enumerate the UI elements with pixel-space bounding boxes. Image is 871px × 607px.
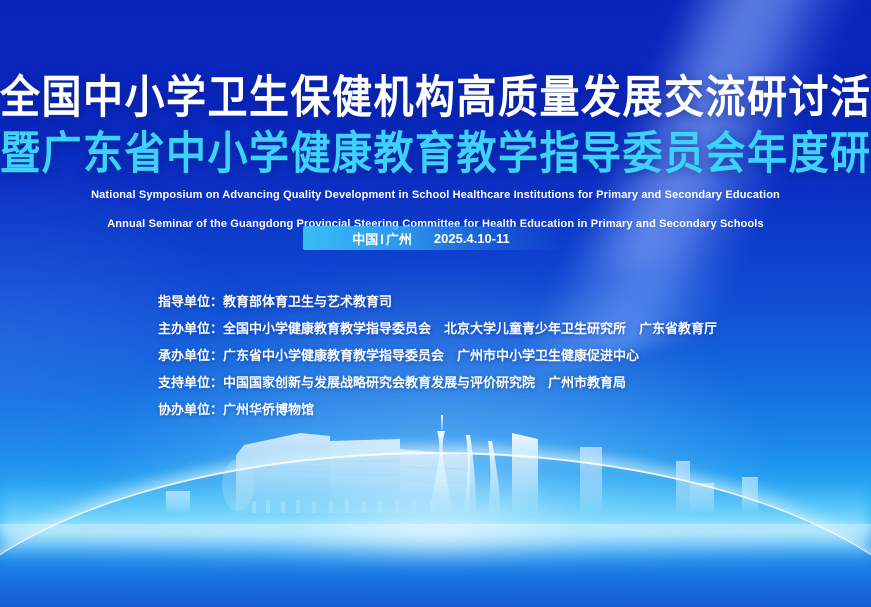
organization-label: 支持单位： bbox=[158, 375, 223, 390]
organization-label: 主办单位： bbox=[158, 321, 223, 336]
organization-value: 教育部体育卫生与艺术教育司 bbox=[223, 294, 392, 309]
organization-row: 承办单位：广东省中小学健康教育教学指导委员会 广州市中小学卫生健康促进中心 bbox=[158, 342, 717, 369]
office-tower-c bbox=[676, 461, 690, 513]
organization-row: 支持单位：中国国家创新与发展战略研究会教育发展与评价研究院 广州市教育局 bbox=[158, 369, 717, 396]
horizon-arc-line bbox=[0, 452, 871, 607]
title-block: 全国中小学卫生保健机构高质量发展交流研讨活动 暨广东省中小学健康教育教学指导委员… bbox=[0, 0, 871, 232]
organizations-list: 指导单位：教育部体育卫生与艺术教育司 主办单位：全国中小学健康教育教学指导委员会… bbox=[158, 288, 717, 423]
office-tower-b bbox=[580, 447, 602, 513]
organization-row: 主办单位：全国中小学健康教育教学指导委员会 北京大学儿童青少年卫生研究所 广东省… bbox=[158, 315, 717, 342]
poster-title-en-line1: National Symposium on Advancing Quality … bbox=[0, 188, 871, 203]
meta-country: 中国 bbox=[352, 232, 378, 247]
event-meta-bar: 中国l广州 2025.4.10-11 bbox=[303, 226, 565, 250]
event-poster: 全国中小学卫生保健机构高质量发展交流研讨活动 暨广东省中小学健康教育教学指导委员… bbox=[0, 0, 871, 607]
office-tower-e bbox=[742, 477, 758, 513]
organization-value: 中国国家创新与发展战略研究会教育发展与评价研究院 广州市教育局 bbox=[223, 375, 626, 390]
office-tower-a bbox=[512, 433, 538, 513]
organization-value: 广东省中小学健康教育教学指导委员会 广州市中小学卫生健康促进中心 bbox=[223, 348, 639, 363]
ground-reflection bbox=[0, 524, 871, 607]
organization-label: 承办单位： bbox=[158, 348, 223, 363]
meta-location: 中国l广州 bbox=[352, 229, 412, 248]
organization-label: 协办单位： bbox=[158, 402, 223, 417]
organization-row: 协办单位：广州华侨博物馆 bbox=[158, 396, 717, 423]
organization-value: 全国中小学健康教育教学指导委员会 北京大学儿童青少年卫生研究所 广东省教育厅 bbox=[223, 321, 717, 336]
meta-city: 广州 bbox=[386, 232, 412, 247]
organization-label: 指导单位： bbox=[158, 294, 223, 309]
meta-bar-text: 中国l广州 2025.4.10-11 bbox=[303, 226, 565, 250]
guangzhou-skyline-silhouette bbox=[0, 405, 871, 535]
school-building-illustration bbox=[222, 433, 470, 513]
spire-towers bbox=[464, 435, 500, 513]
horizon-arc-glow bbox=[0, 446, 871, 607]
organization-value: 广州华侨博物馆 bbox=[223, 402, 314, 417]
meta-dates: 2025.4.10-11 bbox=[434, 231, 510, 246]
organization-row: 指导单位：教育部体育卫生与艺术教育司 bbox=[158, 288, 717, 315]
poster-title-cn-primary: 全国中小学卫生保健机构高质量发展交流研讨活动 bbox=[0, 72, 871, 124]
poster-content: 全国中小学卫生保健机构高质量发展交流研讨活动 暨广东省中小学健康教育教学指导委员… bbox=[0, 0, 871, 232]
horizon-glow-band bbox=[0, 478, 871, 568]
canton-tower-silhouette bbox=[430, 415, 452, 513]
office-tower-d bbox=[690, 483, 714, 513]
office-tower-f bbox=[166, 491, 190, 513]
poster-title-cn-secondary: 暨广东省中小学健康教育教学指导委员会年度研讨活动 bbox=[0, 128, 871, 180]
meta-separator: l bbox=[378, 232, 386, 247]
